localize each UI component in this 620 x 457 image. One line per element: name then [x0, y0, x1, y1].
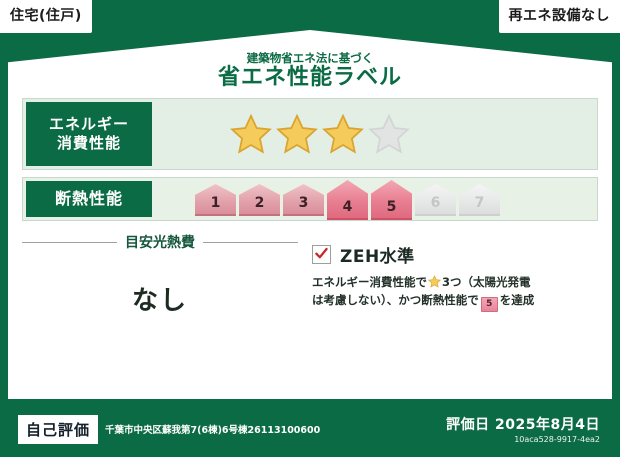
zeh-description: エネルギー消費性能で3つ（太陽光発電 は考慮しない）、かつ断熱性能で5を達成: [312, 274, 596, 312]
energy-performance-label: 住宅(住戸) 再エネ設備なし 建築物省エネ法に基づく 省エネ性能ラベル エネルギ…: [0, 0, 620, 457]
insulation-level-2-value: 2: [255, 195, 265, 211]
zeh-checkbox: [312, 245, 331, 264]
energy-performance-row: エネルギー 消費性能: [22, 98, 598, 170]
zeh-section: ZEH水準 エネルギー消費性能で3つ（太陽光発電 は考慮しない）、かつ断熱性能で…: [298, 228, 598, 366]
evaluation-date-block: 評価日 2025年8月4日 10aca528-9917-4ea2: [446, 414, 600, 444]
check-icon: [314, 246, 329, 261]
zeh-desc-part2: は考慮しない）、かつ断熱性能で: [312, 293, 479, 307]
energy-label-line2: 消費性能: [57, 134, 121, 153]
label-content: エネルギー 消費性能: [8, 92, 612, 399]
insulation-level-5: 5: [371, 180, 412, 218]
zeh-desc-part3: を達成: [500, 293, 535, 307]
evaluation-type-badge: 自己評価: [18, 415, 98, 444]
insulation-level-1: 1: [195, 184, 236, 214]
utility-cost-heading: 目安光熱費: [22, 232, 298, 252]
insulation-level-7-value: 7: [475, 195, 485, 211]
inline-star-icon: [428, 275, 441, 288]
insulation-level-1-value: 1: [211, 195, 221, 211]
zeh-title: ZEH水準: [340, 242, 415, 267]
evaluation-date-label: 評価日: [446, 417, 490, 433]
insulation-level-5-value: 5: [387, 199, 397, 215]
renewable-equipment-tag: 再エネ設備なし: [499, 0, 620, 33]
insulation-level-4-value: 4: [343, 199, 353, 215]
utility-cost-value: なし: [22, 280, 298, 317]
energy-star-rating: [155, 99, 597, 169]
page-title: 省エネ性能ラベル: [218, 65, 402, 90]
label-house-body: 建築物省エネ法に基づく 省エネ性能ラベル エネルギー 消費性能: [8, 30, 612, 399]
insulation-performance-label: 断熱性能: [26, 181, 152, 217]
header-subtitle: 建築物省エネ法に基づく: [247, 52, 374, 65]
insulation-level-4: 4: [327, 180, 368, 218]
star-filled-2: [275, 113, 319, 155]
insulation-level-6-value: 6: [431, 195, 441, 211]
property-address: 千葉市中央区蘇我第7(6棟)6号棟26113100600: [105, 422, 446, 436]
star-filled-3: [321, 113, 365, 155]
zeh-desc-star-count: 3つ（太陽光発電: [442, 275, 531, 289]
inline-insulation-chip: 5: [481, 297, 498, 312]
zeh-heading: ZEH水準: [312, 242, 596, 267]
evaluation-date-value: 2025年8月4日: [495, 417, 600, 433]
energy-performance-label: エネルギー 消費性能: [26, 102, 152, 166]
insulation-level-3: 3: [283, 184, 324, 214]
lower-section: 目安光熱費 なし ZEH水準 エネルギー消費性能で3つ（太陽光発電 は考慮しない…: [22, 228, 598, 366]
insulation-level-2: 2: [239, 184, 280, 214]
evaluation-date: 評価日 2025年8月4日: [446, 414, 600, 434]
insulation-label-text: 断熱性能: [55, 189, 123, 209]
star-filled-1: [229, 113, 273, 155]
building-type-tag: 住宅(住戸): [0, 0, 92, 33]
insulation-level-6: 6: [415, 184, 456, 214]
insulation-level-7: 7: [459, 184, 500, 214]
insulation-level-3-value: 3: [299, 195, 309, 211]
header-text-block: 建築物省エネ法に基づく 省エネ性能ラベル: [8, 30, 612, 92]
label-id-code: 10aca528-9917-4ea2: [446, 435, 600, 444]
star-empty-4: [367, 113, 411, 155]
utility-cost-heading-text: 目安光熱費: [125, 232, 195, 252]
energy-label-line1: エネルギー: [49, 115, 129, 134]
zeh-desc-part1: エネルギー消費性能で: [312, 275, 427, 289]
utility-cost-section: 目安光熱費 なし: [22, 228, 298, 366]
insulation-performance-row: 断熱性能 1 2 3: [22, 177, 598, 221]
label-footer: 自己評価 千葉市中央区蘇我第7(6棟)6号棟26113100600 評価日 20…: [8, 407, 612, 451]
insulation-level-scale: 1 2 3 4 5: [155, 178, 597, 220]
